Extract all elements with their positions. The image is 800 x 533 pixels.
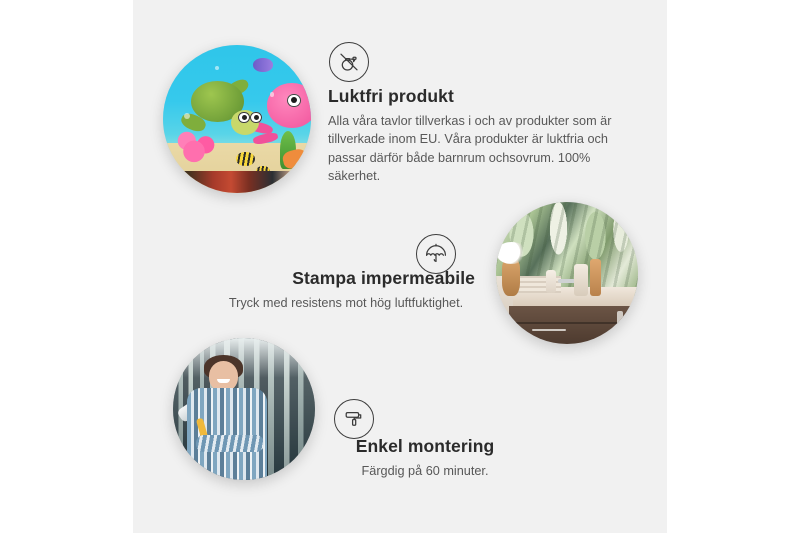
promo-banner: Luktfri produkt Alla våra tavlor tillver…: [0, 0, 800, 533]
feature-odourless: Luktfri produkt Alla våra tavlor tillver…: [328, 86, 624, 186]
underwater-cartoon-photo: [163, 45, 311, 193]
feature-body: Färgdig på 60 minuter.: [300, 462, 550, 481]
no-fragrance-icon: [329, 42, 369, 82]
feature-heading: Luktfri produkt: [328, 86, 624, 108]
feature-waterproof: Stampa impermeabile Tryck med resistens …: [215, 268, 477, 312]
feature-heading: Stampa impermeabile: [215, 268, 477, 290]
forest-decorator-photo: [173, 338, 315, 480]
feature-heading: Enkel montering: [300, 436, 550, 458]
bathroom-vanity-photo: [496, 202, 638, 344]
feature-body: Tryck med resistens mot hög luftfuktighe…: [215, 294, 477, 313]
feature-body: Alla våra tavlor tillverkas i och av pro…: [328, 112, 624, 186]
paint-roller-icon: [334, 399, 374, 439]
feature-easy-mounting: Enkel montering Färgdig på 60 minuter.: [300, 436, 550, 480]
